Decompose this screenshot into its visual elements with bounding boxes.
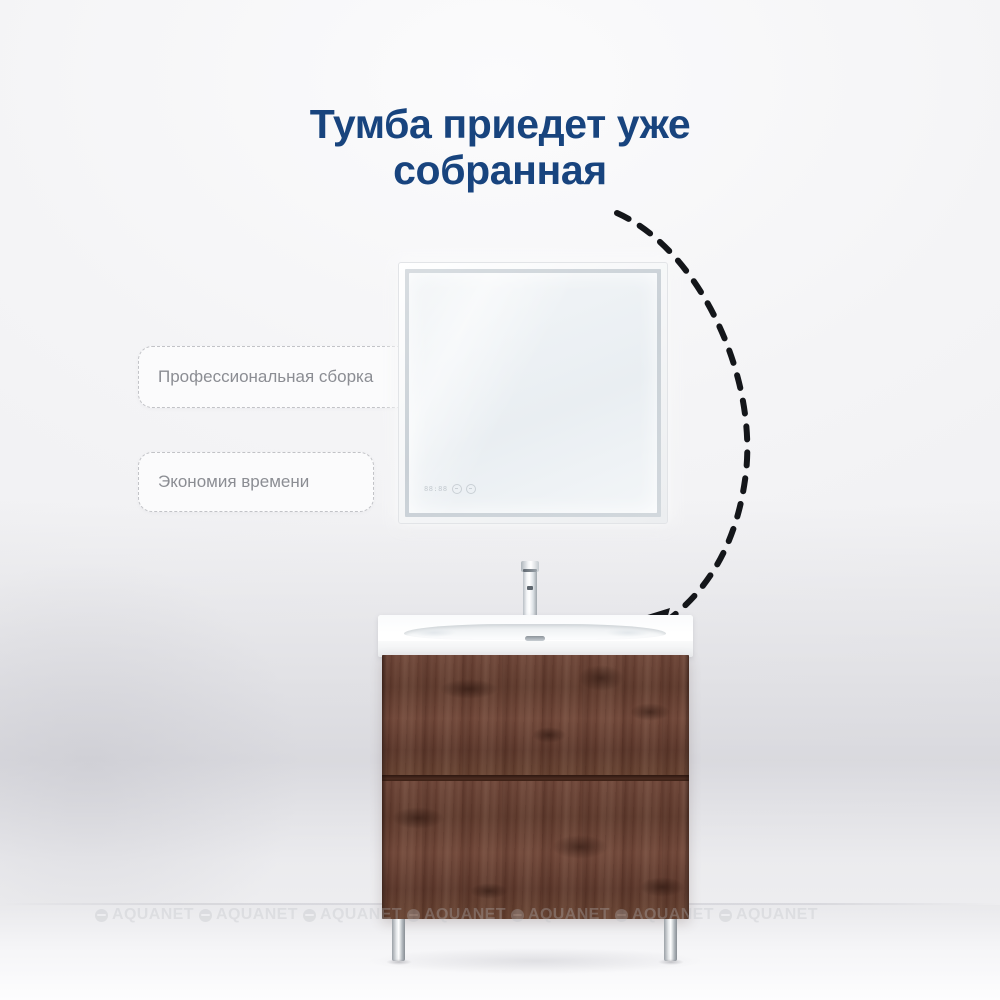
faucet-body bbox=[523, 569, 537, 621]
feature-badge-label: Экономия времени bbox=[158, 472, 309, 492]
wood-knot bbox=[640, 877, 684, 897]
product-marketing-banner: Тумба приедет уже собранная Профессионал… bbox=[0, 0, 1000, 1000]
washbasin bbox=[378, 615, 693, 657]
cabinet-body bbox=[382, 655, 689, 919]
floor-reflection bbox=[368, 948, 703, 974]
feature-badge-label: Профессиональная сборка bbox=[158, 367, 373, 387]
faucet bbox=[517, 559, 543, 621]
wood-knot bbox=[440, 679, 498, 699]
mirror-reflection-sheen bbox=[409, 273, 657, 513]
headline-title: Тумба приедет уже собранная bbox=[0, 102, 1000, 194]
wood-knot bbox=[392, 807, 444, 829]
basin-drain bbox=[525, 636, 545, 641]
faucet-button bbox=[527, 586, 533, 590]
wood-knot bbox=[552, 835, 608, 859]
basin-left-recess bbox=[412, 628, 456, 637]
power-sensor-icon bbox=[466, 484, 476, 494]
faucet-lever-handle bbox=[523, 569, 537, 572]
mirror-control-panel: 88:88 bbox=[424, 484, 476, 494]
vanity-unit bbox=[378, 615, 693, 960]
touch-sensor-icon bbox=[452, 484, 462, 494]
mirror-clock-display: 88:88 bbox=[424, 485, 448, 493]
cabinet-drawer-top bbox=[382, 655, 689, 777]
wood-knot bbox=[578, 665, 624, 691]
wood-knot bbox=[532, 727, 566, 743]
led-mirror: 88:88 bbox=[398, 262, 668, 524]
wood-knot bbox=[630, 703, 670, 721]
cabinet-left-edge bbox=[382, 655, 387, 919]
feature-badge-time-saving: Экономия времени bbox=[138, 452, 374, 512]
basin-right-recess bbox=[606, 628, 650, 637]
cabinet-drawer-bottom bbox=[382, 781, 689, 919]
cabinet-right-edge bbox=[684, 655, 689, 919]
wood-knot bbox=[470, 883, 508, 899]
